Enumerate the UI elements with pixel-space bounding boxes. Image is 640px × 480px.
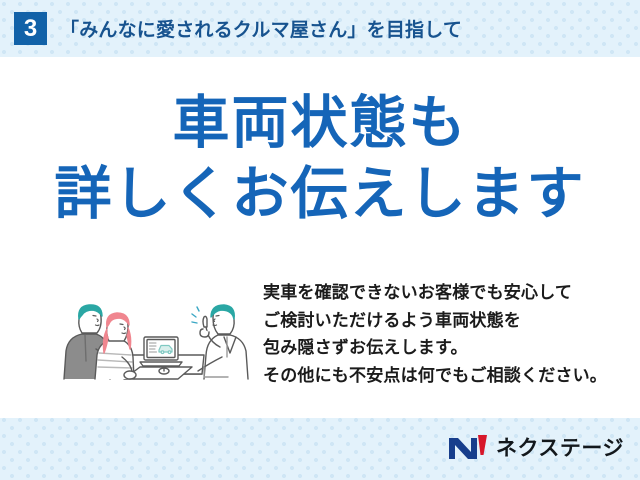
headline-line-2: 詳しくお伝えします [0, 166, 640, 223]
body-copy: 実車を確認できないお客様でも安心して ご検討いただけるよう車両状態を 包み隠さず… [263, 279, 640, 389]
header: 3 「みんなに愛されるクルマ屋さん」を目指して [0, 0, 640, 57]
body-line-1: 実車を確認できないお客様でも安心して [263, 279, 640, 307]
promo-banner: 3 「みんなに愛されるクルマ屋さん」を目指して 車両状態も 詳しくお伝えします [0, 0, 640, 480]
brand-logo: ネクステージ [447, 432, 624, 462]
footer: ネクステージ [0, 418, 640, 480]
step-number-badge: 3 [14, 12, 47, 45]
body-line-2: ご検討いただけるよう車両状態を [263, 307, 640, 335]
body-line-4: その他にも不安点は何でもご相談ください。 [263, 362, 640, 390]
nextage-n-mark-icon [447, 433, 489, 461]
headline-line-1: 車両状態も [0, 95, 640, 152]
body-line-3: 包み隠さずお伝えします。 [263, 334, 640, 362]
header-title: 「みんなに愛されるクルマ屋さん」を目指して [60, 15, 462, 42]
headline: 車両状態も 詳しくお伝えします [0, 95, 640, 223]
content-card: 車両状態も 詳しくお伝えします [0, 57, 640, 418]
brand-name: ネクステージ [496, 432, 624, 462]
lower-section: 実車を確認できないお客様でも安心して ご検討いただけるよう車両状態を 包み隠さず… [0, 275, 640, 415]
consultation-illustration [52, 277, 257, 397]
